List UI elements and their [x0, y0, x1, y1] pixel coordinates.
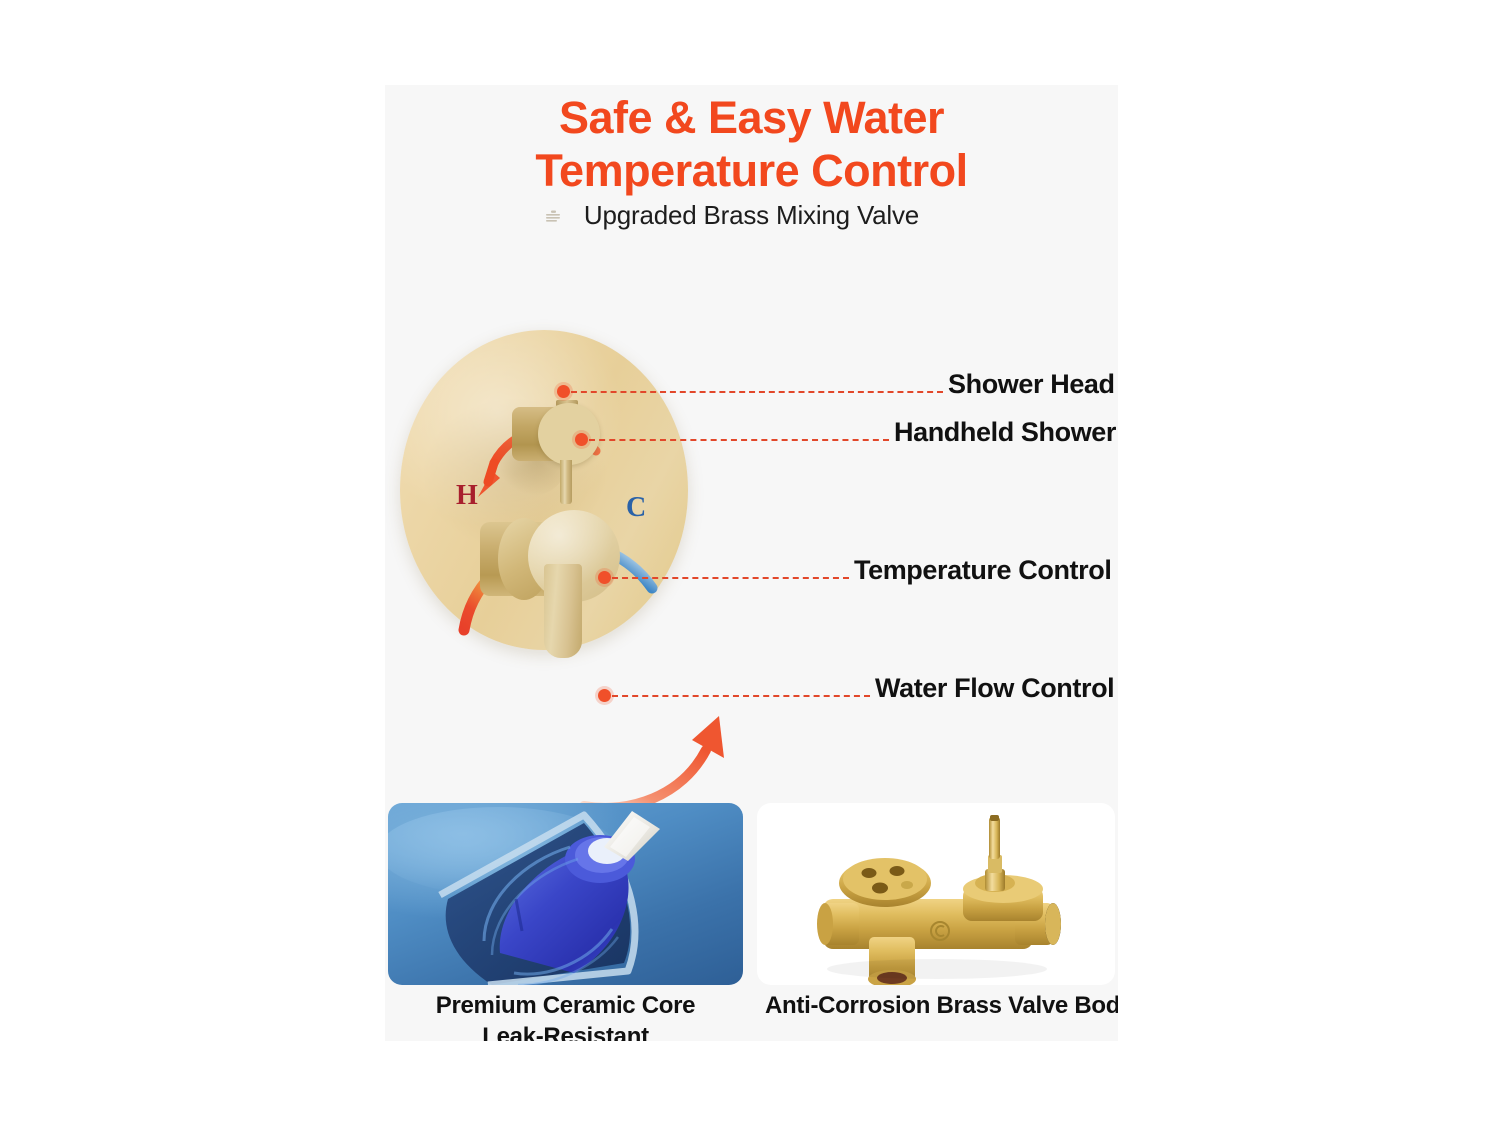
caption-premium-ceramic-core: Premium Ceramic Core Leak-Resistant [388, 990, 743, 1041]
callout-handheld-shower: Handheld Shower [385, 429, 1118, 451]
knob-stem [560, 460, 572, 504]
page-title-line2: Temperature Control [385, 144, 1118, 197]
callout-dot [575, 433, 588, 446]
callout-label-temperature-control: Temperature Control [854, 555, 1111, 586]
callout-leader-line [612, 695, 870, 697]
callout-label-water-flow-control: Water Flow Control [875, 673, 1114, 704]
callout-water-flow-control: Water Flow Control [385, 685, 1118, 707]
shower-head-icon [545, 210, 563, 224]
caption-line1: Premium Ceramic Core [436, 992, 695, 1019]
callout-dot [598, 689, 611, 702]
callout-dot [598, 571, 611, 584]
caption-anti-corrosion-brass-valve-body: Anti-Corrosion Brass Valve Body [757, 990, 1118, 1021]
callout-label-handheld-shower: Handheld Shower [894, 417, 1116, 448]
card-premium-ceramic-core [388, 803, 743, 985]
callout-shower-head: Shower Head [385, 381, 1118, 403]
callout-leader-line [612, 577, 849, 579]
caption-line2: Leak-Resistant [482, 1023, 649, 1041]
callout-leader-line [571, 391, 943, 393]
page-subtitle: Upgraded Brass Mixing Valve [385, 200, 1118, 231]
card-anti-corrosion-brass-valve-body [757, 803, 1115, 985]
diverter-rotation-arc-tail [488, 463, 494, 482]
caption-line1: Anti-Corrosion Brass Valve Body [765, 992, 1118, 1019]
page-title-line1: Safe & Easy Water [559, 92, 944, 143]
shower-valve-trim-illustration: H C [400, 330, 690, 650]
hot-marker: H [456, 482, 478, 510]
page-title: Safe & Easy Water Temperature Control [385, 85, 1118, 197]
callout-label-shower-head: Shower Head [948, 369, 1115, 400]
callout-leader-line [589, 439, 889, 441]
infographic-panel: Safe & Easy Water Temperature Control Up… [385, 85, 1118, 1041]
callout-dot [557, 385, 570, 398]
callout-temperature-control: Temperature Control [385, 567, 1118, 589]
brass-valve-body-image [757, 803, 1115, 985]
ceramic-cartridge-image [388, 803, 743, 985]
